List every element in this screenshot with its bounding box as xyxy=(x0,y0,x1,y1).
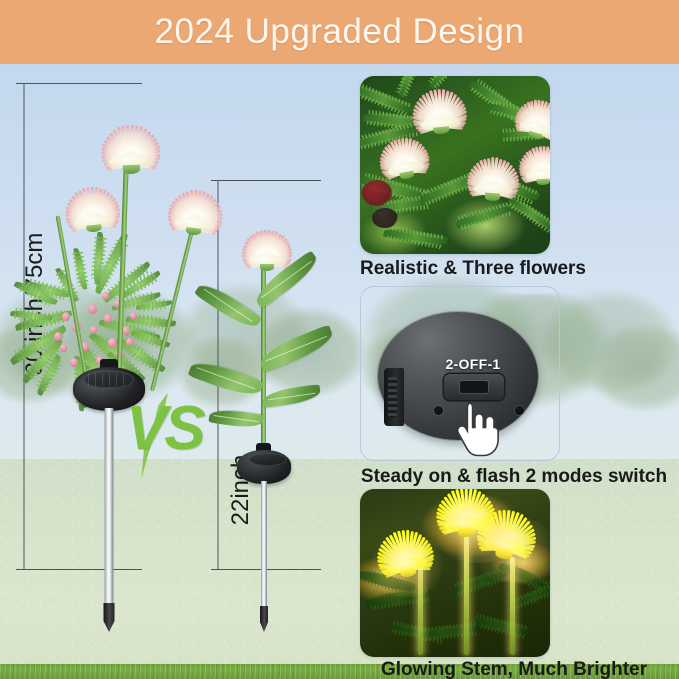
flower-bud xyxy=(88,304,97,314)
infographic-canvas: 2024 Upgraded Design 30 inch/75cm 22inch xyxy=(0,0,679,679)
ruler-cap-top xyxy=(16,83,142,84)
solar-panel xyxy=(249,453,287,466)
flower-bud xyxy=(62,312,70,321)
red-leaf-accent xyxy=(362,180,392,206)
feature-card-glowing-stem[interactable]: Glowing Stem, Much Brighter xyxy=(360,489,550,657)
flower-bud xyxy=(72,322,81,332)
flower-bud xyxy=(114,300,121,308)
header-banner: 2024 Upgraded Design xyxy=(0,0,679,64)
solar-switch-housing[interactable]: 2-OFF-1 xyxy=(378,312,538,440)
card-caption-realistic: Realistic & Three flowers xyxy=(356,258,656,280)
stake-tip xyxy=(104,603,115,632)
glow-halo xyxy=(366,535,448,597)
ruler-cap-top xyxy=(211,180,321,181)
glow-halo xyxy=(468,517,550,583)
photo-realistic-flowers xyxy=(360,76,550,254)
screw-hole-left-icon xyxy=(434,406,443,415)
switch-mode-label: 2-OFF-1 xyxy=(428,356,518,372)
flower-bud xyxy=(126,338,133,346)
metal-stake xyxy=(261,481,267,609)
stake-tip xyxy=(260,606,268,632)
switch-connector-tab xyxy=(384,368,404,426)
flower-bud xyxy=(108,338,117,348)
solar-panel-head xyxy=(237,450,291,484)
photo-glowing-flowers xyxy=(360,489,550,657)
card-caption-glow: Glowing Stem, Much Brighter xyxy=(354,659,674,679)
dark-leaf-accent xyxy=(372,208,398,228)
flower-bud xyxy=(104,314,112,323)
foliage-frond xyxy=(136,300,172,310)
ruler-line xyxy=(217,180,218,570)
hand-tap-icon xyxy=(456,400,502,460)
solar-panel xyxy=(84,371,134,388)
flower-bud xyxy=(80,342,89,352)
feature-card-realistic-flowers[interactable]: Realistic & Three flowers xyxy=(360,76,550,254)
solar-lamp-short xyxy=(233,450,295,632)
flower-bud xyxy=(90,326,97,334)
flower-bud xyxy=(122,326,130,335)
flower-bud xyxy=(116,350,124,359)
flower-bud xyxy=(60,344,67,352)
flower-bud xyxy=(102,292,109,300)
measurement-ruler-short: 22inch xyxy=(217,180,218,570)
flower-bud xyxy=(54,332,62,341)
flower-bud xyxy=(130,312,137,320)
flower-bud xyxy=(70,358,78,367)
vs-badge: VS xyxy=(126,398,203,460)
page-title: 2024 Upgraded Design xyxy=(155,12,525,52)
flower-calyx xyxy=(537,178,550,185)
screw-hole-right-icon xyxy=(515,406,524,415)
card-caption-switch: Steady on & flash 2 modes switch xyxy=(356,466,672,488)
feature-card-switch[interactable]: 2-OFF-1 Steady on & flash 2 modes switch xyxy=(360,286,560,461)
metal-stake xyxy=(105,408,114,608)
flower-head xyxy=(505,149,550,194)
switch-rocker-button[interactable] xyxy=(444,374,504,400)
